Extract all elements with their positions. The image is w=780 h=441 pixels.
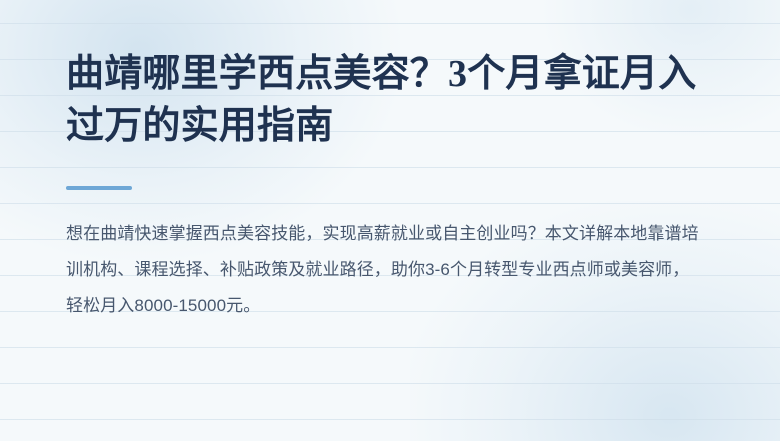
page-title: 曲靖哪里学西点美容？3个月拿证月入过万的实用指南 — [66, 0, 710, 152]
article-hero-card: 曲靖哪里学西点美容？3个月拿证月入过万的实用指南 想在曲靖快速掌握西点美容技能，… — [0, 0, 780, 441]
hero-content: 曲靖哪里学西点美容？3个月拿证月入过万的实用指南 想在曲靖快速掌握西点美容技能，… — [0, 0, 780, 324]
article-summary: 想在曲靖快速掌握西点美容技能，实现高薪就业或自主创业吗？本文详解本地靠谱培训机构… — [66, 190, 706, 324]
